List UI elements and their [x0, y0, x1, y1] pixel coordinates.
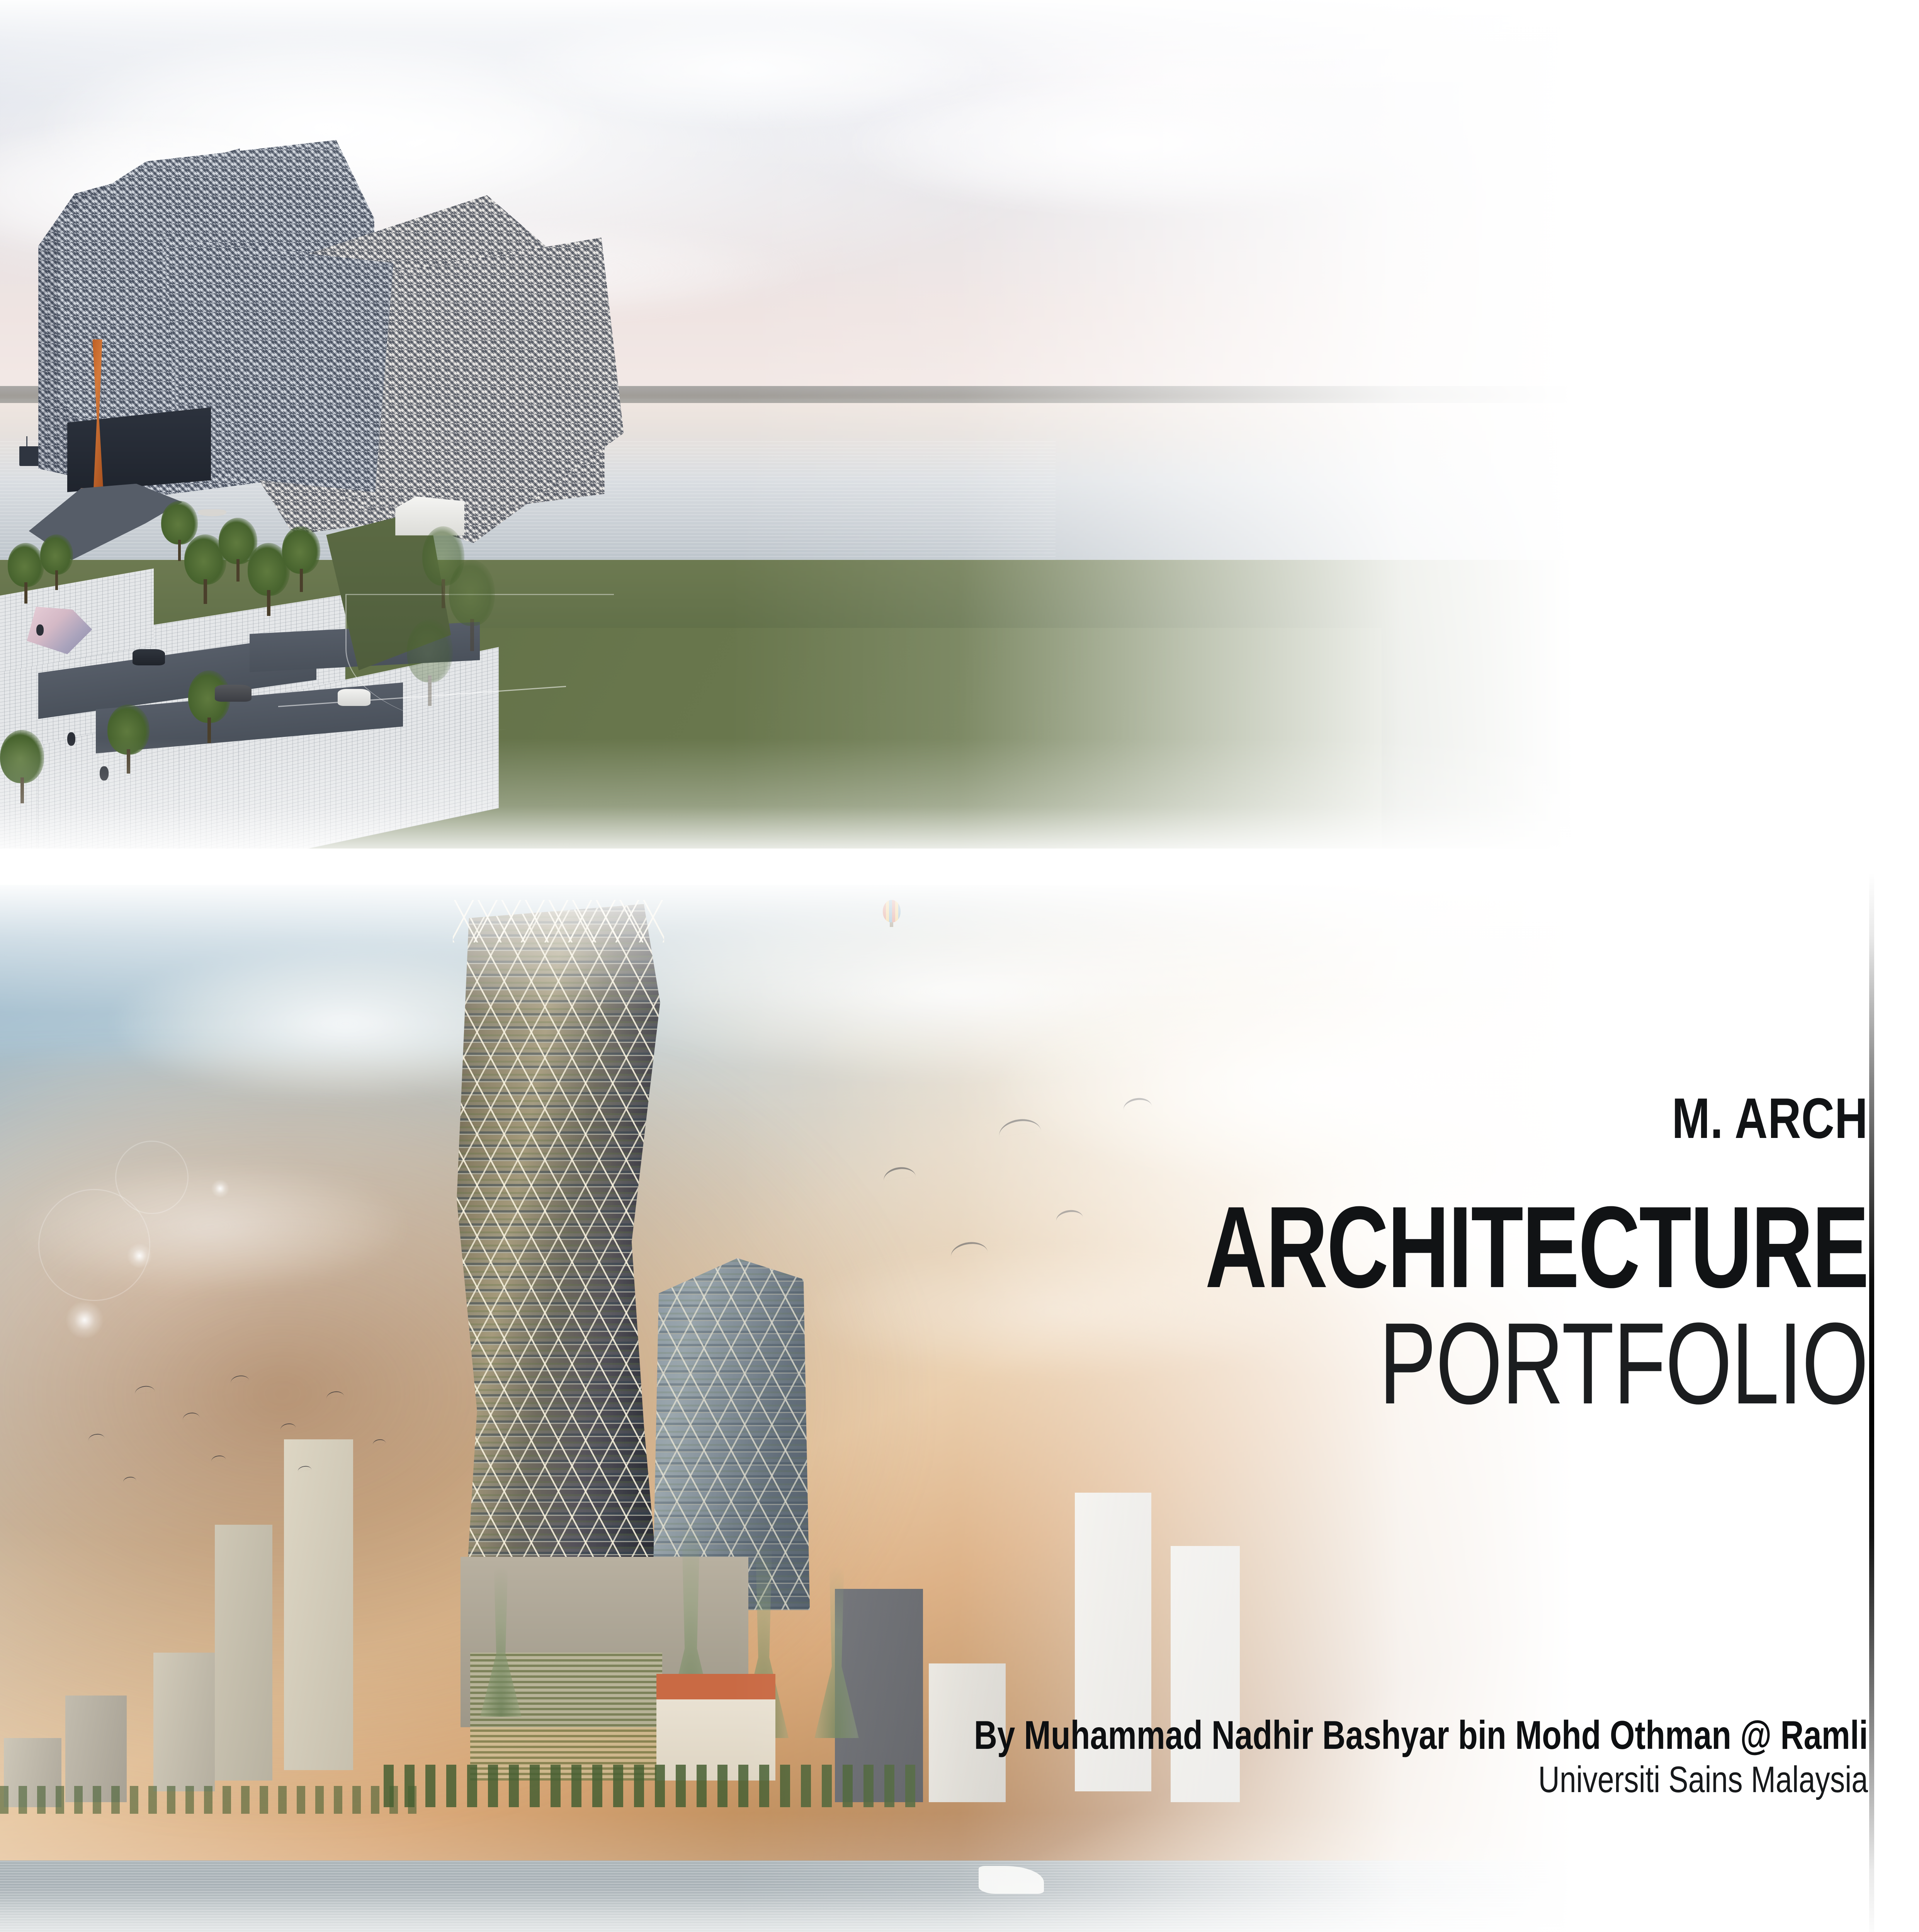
cyclist	[67, 732, 75, 746]
page-title-line-1: ARCHITECTURE	[1125, 1191, 1868, 1303]
lens-flare	[211, 1179, 229, 1198]
pedestrian	[36, 624, 44, 636]
car	[133, 649, 165, 665]
waterfront-tree-line	[0, 1786, 422, 1814]
gallery-scene: PENANG STATE ART GAL	[0, 0, 1919, 849]
tree	[0, 730, 44, 802]
city-block	[215, 1525, 272, 1781]
tree	[449, 560, 495, 649]
car	[338, 689, 370, 706]
tree	[407, 619, 453, 704]
title-block: M. ARCH ARCHITECTURE PORTFOLIO	[863, 1090, 1868, 1420]
byline-block: By Muhammad Nadhir Bashyar bin Mohd Othm…	[361, 1714, 1868, 1801]
vertical-rule	[1869, 872, 1874, 1932]
tower-crown-frame	[453, 900, 664, 942]
cloud	[844, 77, 1420, 212]
city-block	[284, 1439, 353, 1770]
tree	[188, 670, 230, 742]
primary-tower	[457, 904, 660, 1608]
lens-flare	[65, 1301, 104, 1339]
page-title-line-2: PORTFOLIO	[1125, 1306, 1868, 1420]
tree	[107, 704, 150, 772]
tree	[40, 534, 73, 589]
car	[215, 685, 251, 702]
lens-flare-ring	[115, 1141, 189, 1214]
degree-label: M. ARCH	[1064, 1090, 1868, 1148]
tree	[282, 526, 320, 591]
hot-air-balloon	[883, 900, 901, 922]
institution-name: Universiti Sains Malaysia	[663, 1759, 1868, 1801]
water-shimmer	[0, 1861, 1919, 1932]
tree	[8, 543, 44, 602]
faint-project-label: PENANG STATE ART GAL	[1372, 11, 1594, 37]
author-name: By Muhammad Nadhir Bashyar bin Mohd Othm…	[663, 1714, 1868, 1757]
render-art-gallery: PENANG STATE ART GAL	[0, 0, 1919, 849]
tower-diagrid	[457, 904, 660, 1608]
city-block	[153, 1653, 215, 1791]
cyclist	[100, 766, 108, 781]
